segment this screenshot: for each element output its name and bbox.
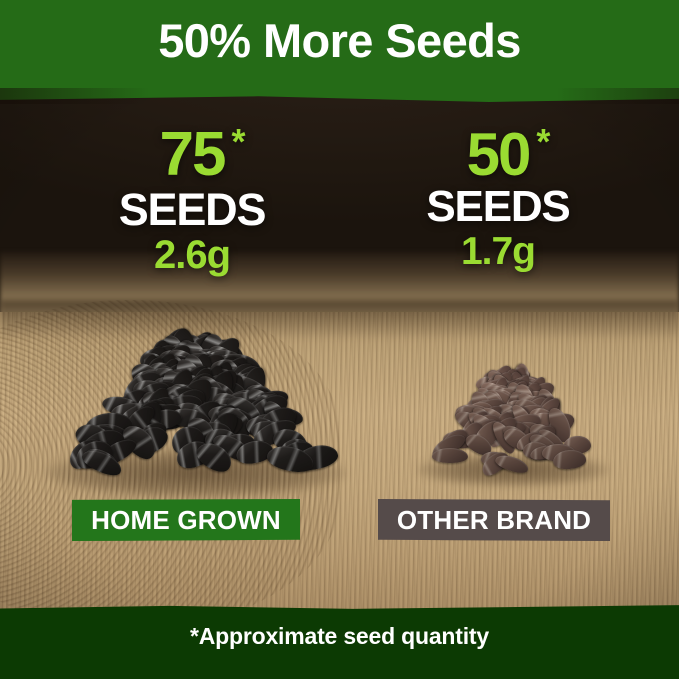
seed-unit-label-other-brand: SEEDS <box>368 185 628 229</box>
brand-label-home-grown-text: HOME GROWN <box>91 505 281 536</box>
product-comparison-infographic: 50% More Seeds 75* SEEDS 2.6g 50* SEEDS … <box>0 0 679 679</box>
stat-block-home-grown: 75* SEEDS 2.6g <box>62 126 322 275</box>
page-title: 50% More Seeds <box>0 17 679 64</box>
footnote-text: *Approximate seed quantity <box>0 623 679 650</box>
seed-count-home-grown: 75* <box>160 126 225 185</box>
seed-count-value-home-grown: 75 <box>160 120 225 189</box>
asterisk-icon-other-brand: * <box>536 124 550 160</box>
seed-weight-other-brand: 1.7g <box>368 232 628 271</box>
seed-count-value-other-brand: 50 <box>467 121 530 188</box>
asterisk-icon-home-grown: * <box>231 124 245 160</box>
seed-count-other-brand: 50* <box>467 126 530 183</box>
seed-unit-label-home-grown: SEEDS <box>62 187 322 232</box>
header-banner: 50% More Seeds <box>0 0 679 103</box>
stat-block-other-brand: 50* SEEDS 1.7g <box>368 126 628 271</box>
brand-label-home-grown: HOME GROWN <box>72 499 300 541</box>
brand-label-other-brand-text: OTHER BRAND <box>397 505 591 536</box>
table-edge-shadow <box>0 300 679 340</box>
seed-weight-home-grown: 2.6g <box>62 235 322 275</box>
footer-banner: *Approximate seed quantity <box>0 604 679 679</box>
seed <box>432 448 468 463</box>
brand-label-other-brand: OTHER BRAND <box>378 499 610 541</box>
